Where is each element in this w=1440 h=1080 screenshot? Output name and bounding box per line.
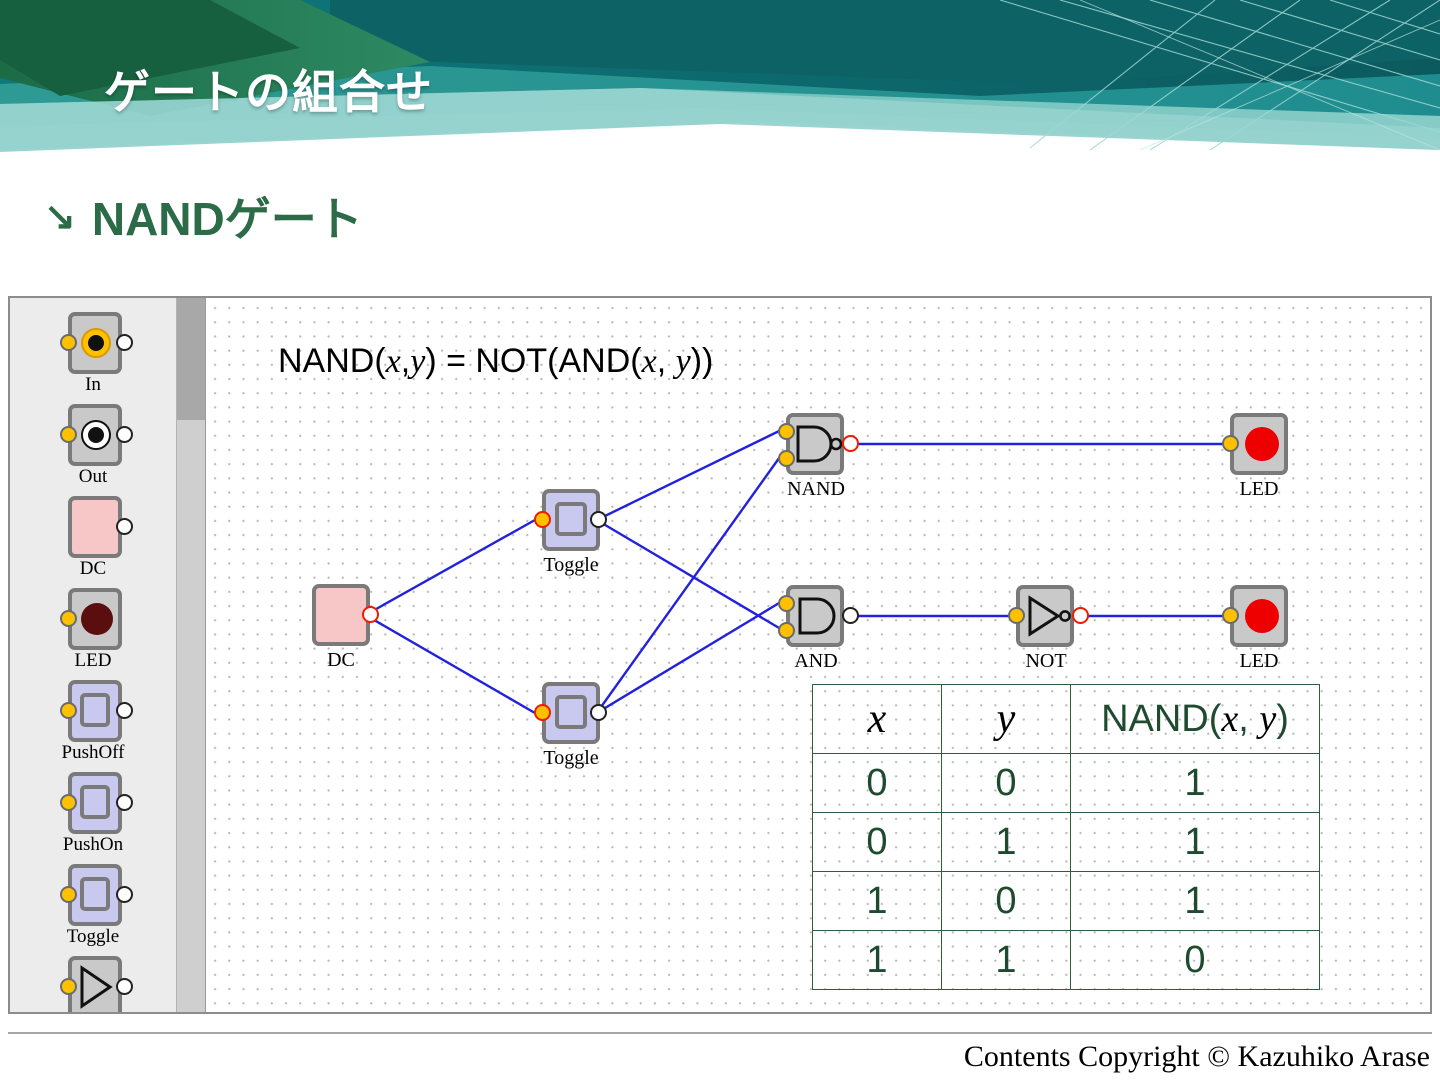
cell-x: 1: [813, 931, 942, 990]
subheading: ↘ NANDゲート: [44, 196, 363, 242]
footer-divider: [8, 1032, 1432, 1034]
toggle-switch-icon: [54, 864, 132, 926]
table-header-x: x: [813, 685, 942, 754]
cell-nand: 1: [1071, 813, 1320, 872]
palette-item-out[interactable]: Out: [10, 404, 176, 486]
canvas-node-nand[interactable]: NAND: [776, 413, 860, 475]
scrollbar-thumb[interactable]: [177, 298, 205, 420]
cell-x: 0: [813, 754, 942, 813]
palette-item-in[interactable]: In: [10, 312, 176, 394]
node-label: Toggle: [543, 748, 598, 768]
pushoff-switch-icon: [54, 680, 132, 742]
canvas-node-not[interactable]: NOT: [1006, 585, 1090, 647]
table-header-nand: NAND(x, y): [1071, 685, 1320, 754]
table-row: 0 0 1: [813, 754, 1320, 813]
cell-nand: 0: [1071, 931, 1320, 990]
node-label: NOT: [1025, 651, 1066, 671]
palette-item-dc[interactable]: DC: [10, 496, 176, 578]
output-port-icon: [54, 404, 132, 466]
page-title: ゲートの組合せ: [104, 56, 433, 122]
buffer-gate-icon: [54, 956, 132, 1012]
palette-item-toggle[interactable]: Toggle: [10, 864, 176, 946]
dc-source-icon: [54, 496, 132, 558]
palette-item-label: PushOn: [63, 835, 123, 854]
palette-item-label: Out: [79, 467, 108, 486]
node-label: LED: [1240, 651, 1279, 671]
palette-scrollbar[interactable]: [176, 298, 205, 1012]
cell-y: 1: [942, 813, 1071, 872]
canvas-node-led-1[interactable]: LED: [1222, 413, 1296, 475]
cell-nand: 1: [1071, 872, 1320, 931]
table-row: 1 1 0: [813, 931, 1320, 990]
palette-item-pushoff[interactable]: PushOff: [10, 680, 176, 762]
node-label: AND: [794, 651, 837, 671]
node-label: LED: [1240, 479, 1279, 499]
cell-y: 0: [942, 872, 1071, 931]
cell-nand: 1: [1071, 754, 1320, 813]
led-icon: [54, 588, 132, 650]
cell-x: 1: [813, 872, 942, 931]
table-header-y: y: [942, 685, 1071, 754]
copyright-text: Contents Copyright © Kazuhiko Arase: [964, 1040, 1430, 1074]
node-label: NAND: [787, 479, 845, 499]
node-label: Toggle: [543, 555, 598, 575]
canvas-node-toggle-2[interactable]: Toggle: [534, 682, 608, 744]
input-port-icon: [54, 312, 132, 374]
cell-y: 1: [942, 931, 1071, 990]
palette-item-led[interactable]: LED: [10, 588, 176, 670]
palette-item-buffer[interactable]: [10, 956, 176, 1012]
canvas-node-led-2[interactable]: LED: [1222, 585, 1296, 647]
cell-y: 0: [942, 754, 1071, 813]
circuit-canvas[interactable]: NAND(x,y) = NOT(AND(x, y)): [205, 298, 1430, 1012]
palette-item-label: PushOff: [62, 743, 125, 762]
logic-simulator-window: In Out DC: [8, 296, 1432, 1014]
palette-item-pushon[interactable]: PushOn: [10, 772, 176, 854]
cell-x: 0: [813, 813, 942, 872]
canvas-node-toggle-1[interactable]: Toggle: [534, 489, 608, 551]
palette-item-label: LED: [75, 651, 112, 670]
node-label: DC: [327, 650, 355, 670]
palette-item-label: Toggle: [67, 927, 120, 946]
component-palette[interactable]: In Out DC: [10, 298, 176, 1012]
truth-table: x y NAND(x, y) 0 0 1 0 1 1 1 0 1 1 1: [812, 684, 1320, 990]
arrow-down-right-icon: ↘: [44, 198, 76, 236]
palette-item-label: DC: [80, 559, 106, 578]
pushon-switch-icon: [54, 772, 132, 834]
table-row: 0 1 1: [813, 813, 1320, 872]
canvas-node-dc[interactable]: DC: [312, 584, 378, 646]
slide-banner: ゲートの組合せ: [0, 0, 1440, 172]
subheading-label: NANDゲート: [92, 196, 363, 242]
table-row: 1 0 1: [813, 872, 1320, 931]
table-header-row: x y NAND(x, y): [813, 685, 1320, 754]
palette-item-label: In: [85, 375, 101, 394]
canvas-node-and[interactable]: AND: [776, 585, 860, 647]
